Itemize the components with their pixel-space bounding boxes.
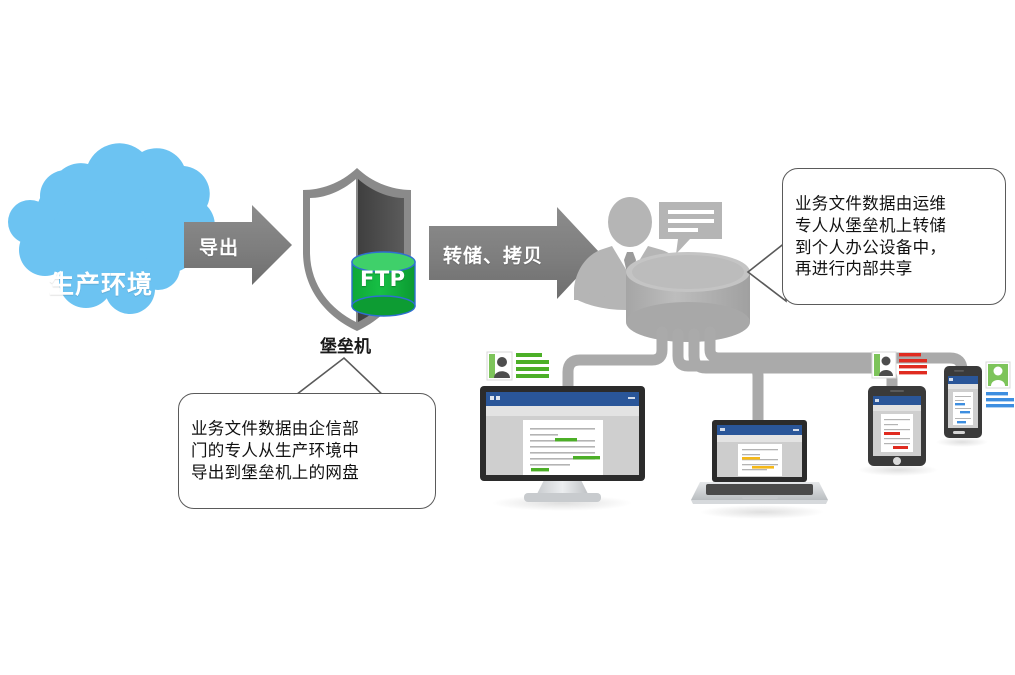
- transfer-copy-arrow-label: 转储、拷贝: [443, 241, 543, 268]
- bastion-callout: 业务文件数据由企信部 门的专人从生产环境中 导出到堡垒机上的网盘: [178, 393, 436, 509]
- bastion-host-label: 堡垒机: [320, 332, 371, 357]
- bastion-callout-line-2: 门的专人从生产环境中: [191, 440, 423, 462]
- user-card-green: [487, 352, 549, 380]
- diagram-canvas: 生产环境 导出 转储、拷贝 FTP 堡垒机 业务文件数据由企信部 门的专人从生产…: [0, 0, 1015, 675]
- smartphone-icon: [936, 362, 1014, 447]
- ops-callout-line-4: 再进行内部共享: [795, 258, 993, 280]
- cloud-label: 生产环境: [16, 228, 186, 338]
- ops-callout: 业务文件数据由运维 专人从堡垒机上转储 到个人办公设备中， 再进行内部共享: [782, 168, 1006, 305]
- laptop-icon: [691, 420, 828, 519]
- bastion-callout-line-3: 导出到堡垒机上的网盘: [191, 462, 423, 484]
- ops-callout-line-1: 业务文件数据由运维: [795, 193, 993, 215]
- user-card-red: [872, 352, 927, 378]
- ops-callout-text: 业务文件数据由运维 专人从堡垒机上转储 到个人办公设备中， 再进行内部共享: [783, 169, 1005, 304]
- ops-callout-line-2: 专人从堡垒机上转储: [795, 215, 993, 237]
- bastion-callout-line-1: 业务文件数据由企信部: [191, 418, 423, 440]
- user-card-blue: [986, 362, 1014, 407]
- ops-callout-line-3: 到个人办公设备中，: [795, 237, 993, 259]
- export-arrow-label: 导出: [199, 233, 239, 260]
- shared-storage-hub-icon: [626, 252, 750, 342]
- bastion-callout-text: 业务文件数据由企信部 门的专人从生产环境中 导出到堡垒机上的网盘: [179, 394, 435, 508]
- ftp-label: FTP: [360, 267, 406, 291]
